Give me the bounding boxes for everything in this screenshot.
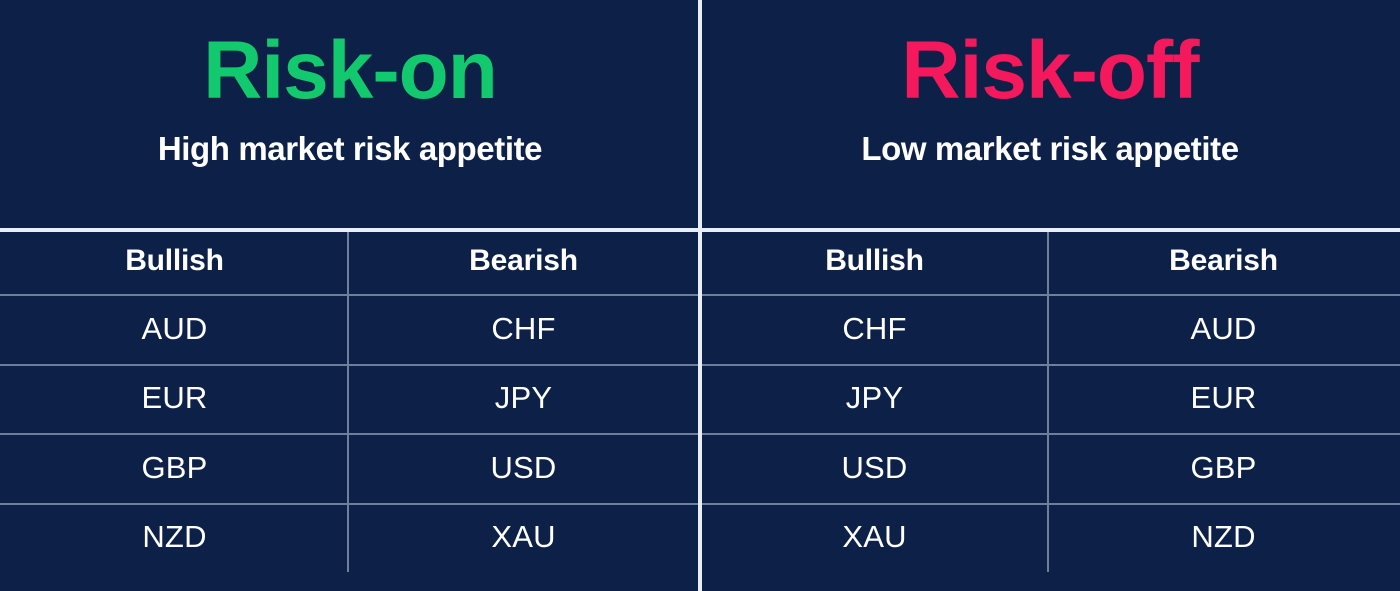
table-cell-bearish: GBP xyxy=(1049,433,1398,503)
table-cell-bearish: NZD xyxy=(1049,503,1398,573)
panel-title-risk-off: Risk-off xyxy=(901,30,1198,112)
table-risk-off: Bullish Bearish CHF AUD JPY EU xyxy=(700,228,1400,591)
risk-sentiment-board: Risk-on High market risk appetite Risk-o… xyxy=(0,0,1400,591)
column-header-label: Bearish xyxy=(469,244,578,278)
table-risk-on: Bullish Bearish AUD CHF EUR JP xyxy=(0,228,700,591)
currency-code: USD xyxy=(841,450,907,486)
column-header-label: Bullish xyxy=(825,244,924,278)
table-cell-bearish: JPY xyxy=(349,364,698,434)
table-cell-bearish: XAU xyxy=(349,503,698,573)
table-row: CHF AUD xyxy=(700,294,1400,364)
currency-code: NZD xyxy=(1191,519,1255,555)
table-cell-bullish: JPY xyxy=(700,364,1049,434)
table-row: XAU NZD xyxy=(700,503,1400,573)
column-header-bearish: Bearish xyxy=(1049,228,1398,294)
currency-code: AUD xyxy=(1190,311,1256,347)
currency-code: EUR xyxy=(141,380,207,416)
panel-divider-vertical xyxy=(698,0,702,591)
panel-header-risk-off: Risk-off Low market risk appetite xyxy=(700,0,1400,228)
currency-code: JPY xyxy=(846,380,903,416)
currency-code: USD xyxy=(490,450,556,486)
currency-code: EUR xyxy=(1190,380,1256,416)
table-cell-bullish: GBP xyxy=(0,433,349,503)
column-header-bearish: Bearish xyxy=(349,228,698,294)
currency-code: XAU xyxy=(842,519,906,555)
table-cell-bearish: USD xyxy=(349,433,698,503)
table-cell-bearish: EUR xyxy=(1049,364,1398,434)
currency-code: XAU xyxy=(491,519,555,555)
table-cell-bullish: CHF xyxy=(700,294,1049,364)
table-cell-bullish: NZD xyxy=(0,503,349,573)
table-cell-bullish: AUD xyxy=(0,294,349,364)
panel-title-risk-on: Risk-on xyxy=(203,30,497,112)
table-row: USD GBP xyxy=(700,433,1400,503)
panel-subtitle-risk-on: High market risk appetite xyxy=(158,130,542,168)
table-header-row: Bullish Bearish xyxy=(0,228,700,294)
currency-code: JPY xyxy=(495,380,552,416)
column-header-label: Bullish xyxy=(125,244,224,278)
column-header-bullish: Bullish xyxy=(700,228,1049,294)
column-header-bullish: Bullish xyxy=(0,228,349,294)
table-row: AUD CHF xyxy=(0,294,700,364)
table-cell-bullish: USD xyxy=(700,433,1049,503)
column-header-label: Bearish xyxy=(1169,244,1278,278)
table-header-row: Bullish Bearish xyxy=(700,228,1400,294)
panel-header-risk-on: Risk-on High market risk appetite xyxy=(0,0,700,228)
currency-code: CHF xyxy=(491,311,555,347)
currency-code: NZD xyxy=(142,519,206,555)
panel-subtitle-risk-off: Low market risk appetite xyxy=(861,130,1238,168)
table-row: GBP USD xyxy=(0,433,700,503)
table-cell-bullish: XAU xyxy=(700,503,1049,573)
currency-code: GBP xyxy=(141,450,207,486)
table-row: JPY EUR xyxy=(700,364,1400,434)
table-cell-bullish: EUR xyxy=(0,364,349,434)
currency-code: GBP xyxy=(1190,450,1256,486)
table-cell-bearish: CHF xyxy=(349,294,698,364)
currency-code: CHF xyxy=(842,311,906,347)
table-row: NZD XAU xyxy=(0,503,700,573)
table-cell-bearish: AUD xyxy=(1049,294,1398,364)
currency-code: AUD xyxy=(141,311,207,347)
table-row: EUR JPY xyxy=(0,364,700,434)
